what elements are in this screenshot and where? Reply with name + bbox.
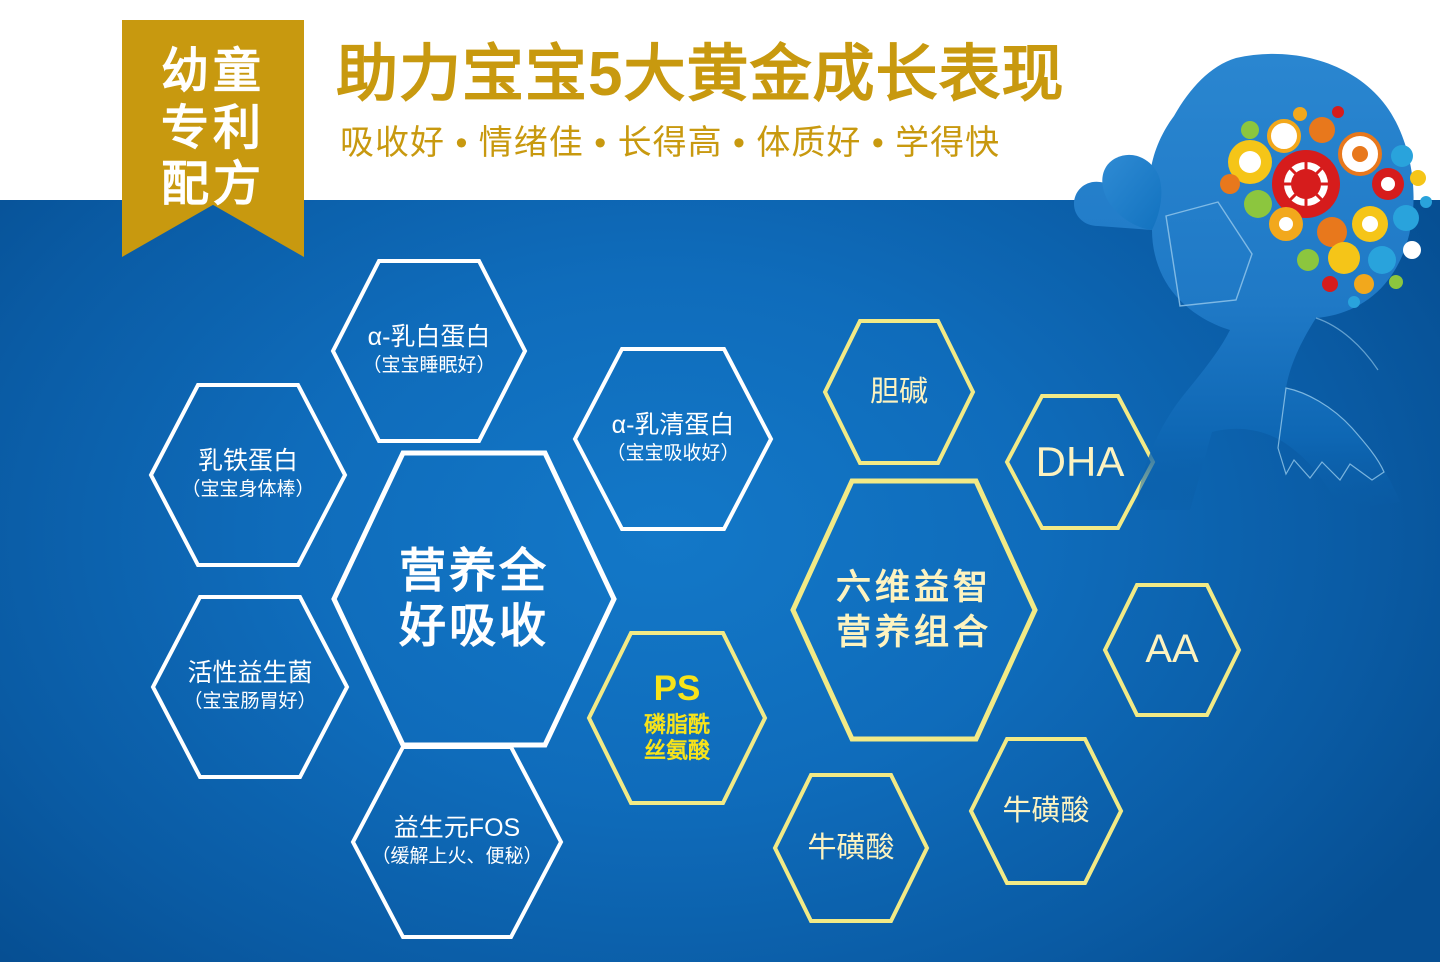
patent-formula-ribbon: 幼童 专利 配方 — [122, 20, 304, 257]
hex-title: 牛磺酸 — [1002, 794, 1089, 828]
hex-brain-nutrition-core[interactable]: 六维益智 营养组合 — [790, 478, 1038, 742]
hex-title: 牛磺酸 — [807, 831, 894, 865]
hex-taurine-left[interactable]: 牛磺酸 — [772, 772, 930, 924]
hex-title: 益生元FOS — [394, 814, 520, 844]
hex-note: （宝宝肠胃好） — [183, 690, 316, 715]
hex-ps-phosphatidylserine[interactable]: PS 磷脂酰 丝氨酸 — [586, 630, 768, 806]
hex-title-line-2: 好吸收 — [399, 599, 549, 654]
ribbon-line-3: 配方 — [122, 157, 304, 214]
hex-note-line-2: 丝氨酸 — [644, 738, 710, 764]
hex-title: 乳铁蛋白 — [198, 447, 298, 477]
hex-title: α-乳清蛋白 — [612, 411, 735, 441]
hex-note: （宝宝身体棒） — [181, 478, 314, 503]
hex-title: α-乳白蛋白 — [368, 323, 491, 353]
hex-lactoferrin[interactable]: 乳铁蛋白 （宝宝身体棒） — [148, 382, 348, 568]
page-subtitle: 吸收好 • 情绪佳 • 长得高 • 体质好 • 学得快 — [340, 125, 1000, 162]
hex-note-line-1: 磷脂酰 — [644, 712, 710, 738]
hex-prebiotic-fos[interactable]: 益生元FOS （缓解上火、便秘） — [350, 744, 564, 940]
poster-canvas: 幼童 专利 配方 助力宝宝5大黄金成长表现 吸收好 • 情绪佳 • 长得高 • … — [0, 0, 1440, 973]
hex-title-line-2: 营养组合 — [836, 610, 992, 656]
hex-title-line-1: 六维益智 — [836, 565, 992, 611]
hex-note: （缓解上火、便秘） — [371, 845, 542, 870]
ribbon-line-1: 幼童 — [122, 44, 304, 101]
hex-probiotics[interactable]: 活性益生菌 （宝宝肠胃好） — [150, 594, 350, 780]
page-title: 助力宝宝5大黄金成长表现 — [336, 42, 1064, 107]
blue-background — [0, 200, 1440, 962]
hex-taurine-right[interactable]: 牛磺酸 — [968, 736, 1124, 886]
ribbon-label: 幼童 专利 配方 — [122, 44, 304, 214]
hex-title: 活性益生菌 — [187, 659, 312, 689]
hex-title-line-1: 营养全 — [399, 544, 549, 599]
hex-alpha-whey-protein[interactable]: α-乳清蛋白 （宝宝吸收好） — [572, 346, 774, 532]
hex-note: （宝宝吸收好） — [606, 442, 739, 467]
hex-dha[interactable]: DHA — [1004, 393, 1156, 531]
bottom-white-strip — [0, 962, 1440, 973]
hex-title: 胆碱 — [870, 375, 928, 409]
hex-alpha-lactalbumin[interactable]: α-乳白蛋白 （宝宝睡眠好） — [330, 258, 528, 444]
hex-title: DHA — [1036, 437, 1125, 487]
hex-title: AA — [1145, 626, 1198, 673]
hex-note: （宝宝睡眠好） — [362, 354, 495, 379]
hex-aa[interactable]: AA — [1102, 582, 1242, 718]
hex-title: PS — [654, 671, 701, 708]
ribbon-line-2: 专利 — [122, 101, 304, 158]
hex-choline[interactable]: 胆碱 — [822, 318, 976, 466]
